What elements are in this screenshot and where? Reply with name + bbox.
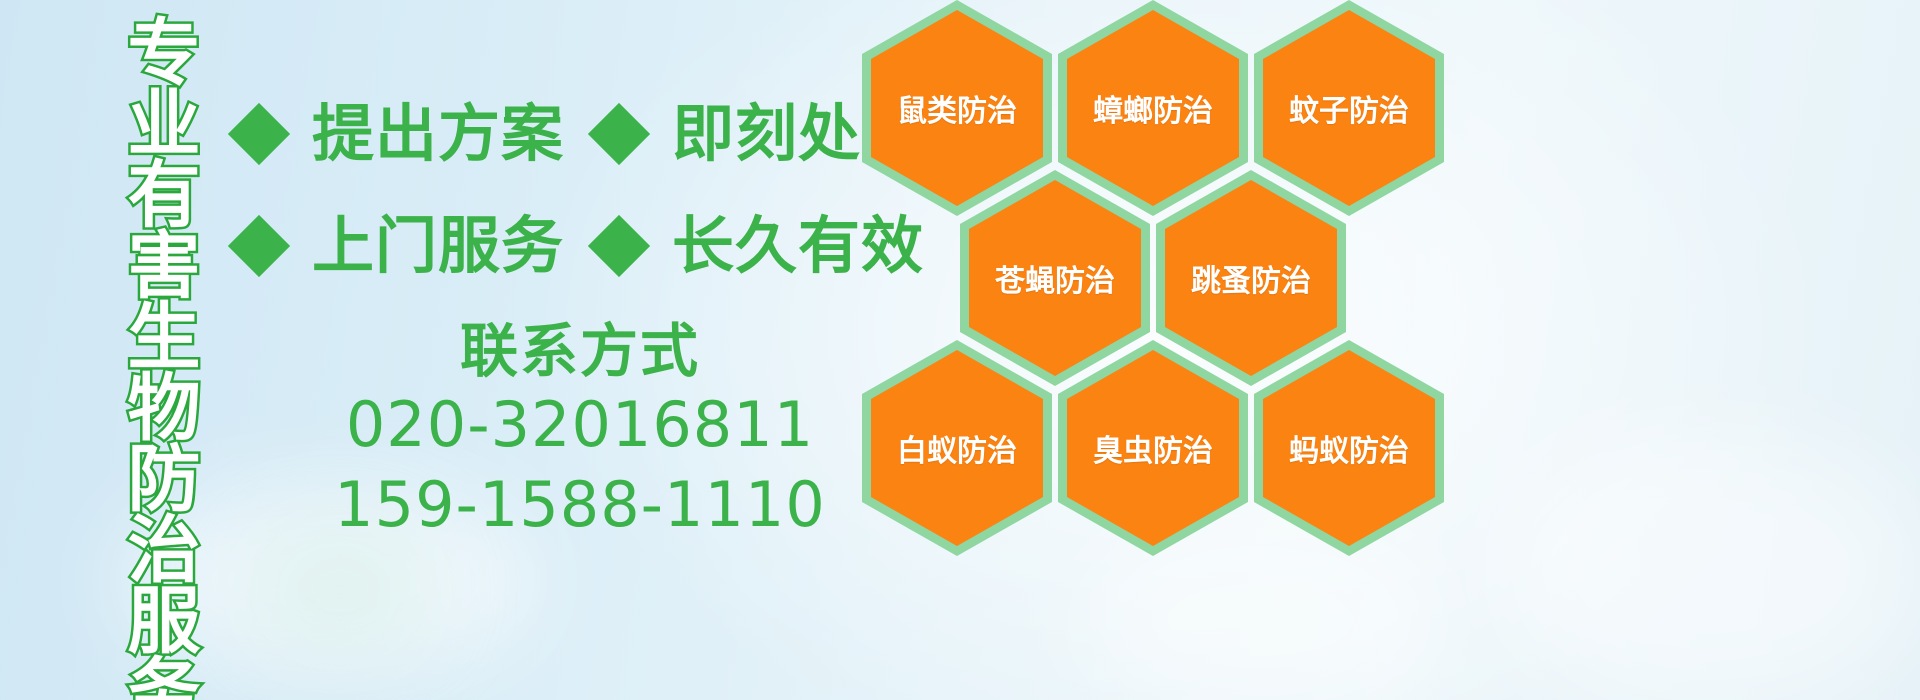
hex-label-mosquito: 蚊子防治 (1289, 86, 1409, 130)
contact-block: 联系方式 020-32016811 159-1588-1110 (300, 318, 860, 546)
pest-control-banner: 专业有害生物防治服务 提出方案 即刻处理 上门服务 长久有效 联系方式 020-… (0, 0, 1920, 700)
phone-landline[interactable]: 020-32016811 (300, 385, 860, 466)
hex-label-cockroach: 蟑螂防治 (1093, 86, 1213, 130)
hex-label-rodent: 鼠类防治 (897, 86, 1017, 130)
feature-label-door-to-door-service: 上门服务 (312, 215, 564, 277)
phone-mobile[interactable]: 159-1588-1110 (300, 465, 860, 546)
service-honeycomb: 鼠类防治 蟑螂防治 蚊子防治 苍蝇防治 跳蚤防治 白蚁防治 (862, 0, 1462, 556)
hex-label-termite: 白蚁防治 (897, 426, 1017, 470)
diamond-bullet-icon (228, 103, 290, 165)
feature-list: 提出方案 即刻处理 上门服务 长久有效 (228, 78, 868, 302)
hex-label-flea: 跳蚤防治 (1191, 256, 1311, 300)
hex-label-bedbug: 臭虫防治 (1093, 426, 1213, 470)
vertical-headline: 专业有害生物防治服务 (102, 14, 194, 700)
diamond-bullet-icon (228, 215, 290, 277)
hex-label-ant: 蚂蚁防治 (1289, 426, 1409, 470)
hex-service-bedbug[interactable]: 臭虫防治 (1058, 340, 1248, 556)
diamond-bullet-icon (588, 215, 650, 277)
hex-label-fly: 苍蝇防治 (995, 256, 1115, 300)
feature-label-propose-plan: 提出方案 (312, 103, 564, 165)
feature-row-1: 提出方案 即刻处理 (228, 78, 868, 190)
background-glow-4 (1500, 430, 1920, 700)
hex-service-ant[interactable]: 蚂蚁防治 (1254, 340, 1444, 556)
contact-title: 联系方式 (300, 318, 860, 385)
diamond-bullet-icon (588, 103, 650, 165)
hex-service-termite[interactable]: 白蚁防治 (862, 340, 1052, 556)
feature-row-2: 上门服务 长久有效 (228, 190, 868, 302)
background-glow-2 (250, 530, 430, 650)
